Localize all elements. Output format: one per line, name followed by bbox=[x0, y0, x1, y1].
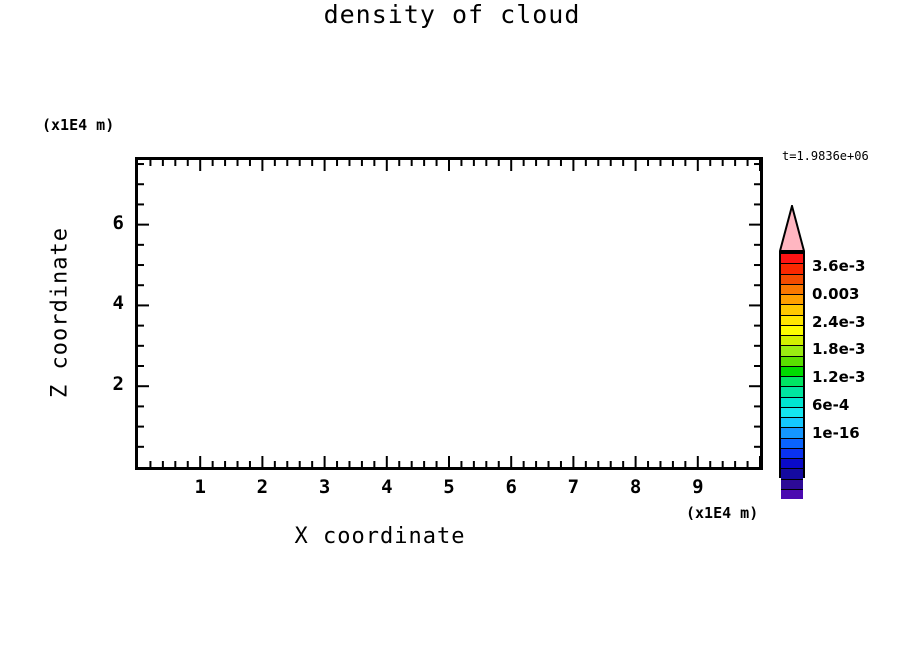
page-title: density of cloud bbox=[0, 0, 904, 29]
colorbar-tick-label: 3.6e-3 bbox=[812, 257, 865, 275]
colorbar-segment bbox=[781, 468, 803, 478]
colorbar-segment bbox=[781, 304, 803, 314]
colorbar-segment bbox=[781, 417, 803, 427]
colorbar-segment bbox=[781, 427, 803, 437]
colorbar-segment bbox=[781, 254, 803, 263]
y-axis-units-label: (x1E4 m) bbox=[42, 116, 114, 134]
y-axis-title: Z coordinate bbox=[48, 193, 73, 433]
x-tick-label: 7 bbox=[553, 476, 593, 498]
colorbar-segment bbox=[781, 315, 803, 325]
colorbar-over-arrow bbox=[779, 205, 805, 253]
y-tick-label: 4 bbox=[84, 292, 124, 314]
colorbar-segment bbox=[781, 274, 803, 284]
colorbar-segment bbox=[781, 325, 803, 335]
x-tick-label: 5 bbox=[429, 476, 469, 498]
colorbar-segment bbox=[781, 376, 803, 386]
colorbar-tick-label: 1.2e-3 bbox=[812, 368, 865, 386]
colorbar-segment bbox=[781, 479, 803, 489]
colorbar-tick-label: 0.003 bbox=[812, 285, 859, 303]
x-tick-label: 4 bbox=[367, 476, 407, 498]
time-annotation: t=1.9836e+06 bbox=[782, 149, 869, 163]
colorbar-tick-label: 2.4e-3 bbox=[812, 313, 865, 331]
colorbar-segment bbox=[781, 489, 803, 499]
x-axis-title: X coordinate bbox=[0, 524, 760, 549]
colorbar-segment bbox=[781, 263, 803, 273]
colorbar-segment bbox=[781, 345, 803, 355]
colorbar-segment bbox=[781, 386, 803, 396]
colorbar-segment bbox=[781, 448, 803, 458]
colorbar-tick-label: 6e-4 bbox=[812, 396, 849, 414]
x-tick-label: 2 bbox=[242, 476, 282, 498]
colorbar-segment bbox=[781, 284, 803, 294]
x-tick-label: 9 bbox=[678, 476, 718, 498]
colorbar-segment bbox=[781, 407, 803, 417]
x-tick-label: 1 bbox=[180, 476, 220, 498]
colorbar-segment bbox=[781, 294, 803, 304]
axis-ticks bbox=[135, 157, 763, 470]
colorbar-segment bbox=[781, 438, 803, 448]
y-tick-label: 2 bbox=[84, 373, 124, 395]
colorbar-segment bbox=[781, 335, 803, 345]
colorbar bbox=[779, 252, 805, 478]
x-axis-units-label: (x1E4 m) bbox=[686, 504, 758, 522]
colorbar-segment bbox=[781, 458, 803, 468]
x-tick-label: 3 bbox=[305, 476, 345, 498]
x-tick-label: 8 bbox=[616, 476, 656, 498]
colorbar-segment bbox=[781, 397, 803, 407]
colorbar-tick-label: 1e-16 bbox=[812, 424, 860, 442]
colorbar-tick-label: 1.8e-3 bbox=[812, 340, 865, 358]
colorbar-segment bbox=[781, 356, 803, 366]
x-tick-label: 6 bbox=[491, 476, 531, 498]
y-tick-label: 6 bbox=[84, 212, 124, 234]
colorbar-segment bbox=[781, 366, 803, 376]
